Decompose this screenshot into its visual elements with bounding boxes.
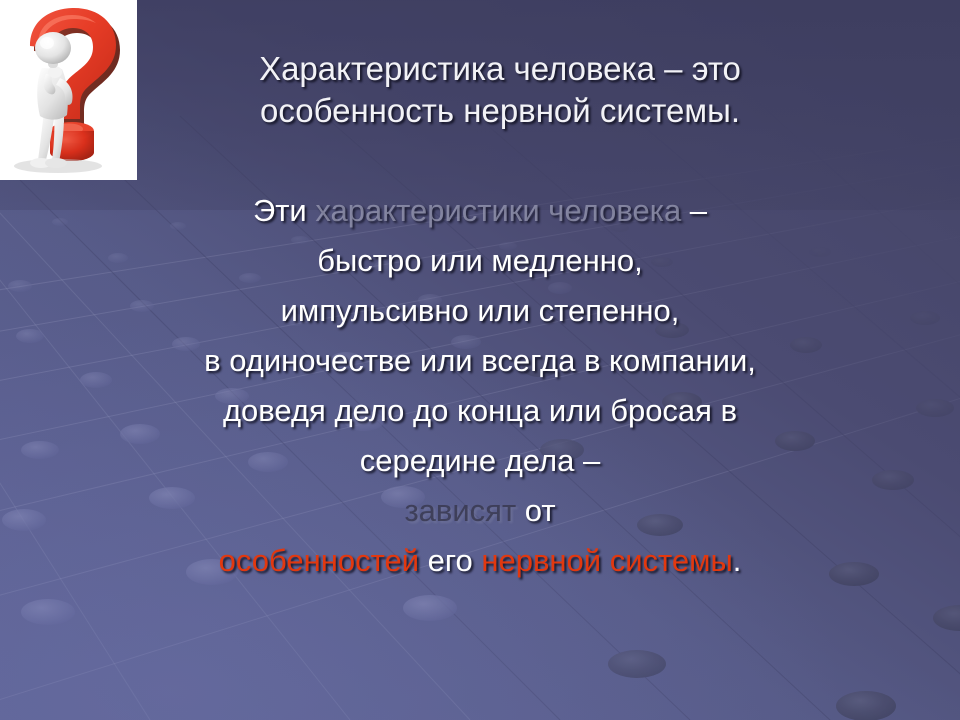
body-line-5-segment-1: доведя дело до конца или бросая в — [223, 393, 737, 428]
slide-title-line-2: особенность нервной системы. — [150, 90, 850, 132]
body-line-7-segment-1: зависят — [404, 493, 516, 528]
body-line-1-segment-2: характеристики человека — [315, 193, 681, 228]
body-line-8-segment-4: . — [733, 543, 742, 578]
body-line-3: импульсивно или степенно, — [60, 286, 900, 336]
body-line-8: особенностей его нервной системы. — [60, 536, 900, 586]
body-line-3-segment-1: импульсивно или степенно, — [281, 293, 680, 328]
body-line-6-segment-1: середине дела – — [360, 443, 600, 478]
body-line-8-segment-2: его — [419, 543, 481, 578]
slide-title-line-1: Характеристика человека – это — [150, 48, 850, 90]
body-line-1: Эти характеристики человека – — [60, 186, 900, 236]
presentation-slide: Характеристика человека – это особенност… — [0, 0, 960, 720]
slide-body: Эти характеристики человека –быстро или … — [60, 186, 900, 586]
body-line-1-segment-1: Эти — [253, 193, 315, 228]
body-line-4-segment-1: в одиночестве или всегда в компании, — [204, 343, 756, 378]
body-line-8-segment-3: нервной системы — [481, 543, 732, 578]
body-line-5: доведя дело до конца или бросая в — [60, 386, 900, 436]
body-line-2-segment-1: быстро или медленно, — [317, 243, 643, 278]
body-line-7: зависят от — [60, 486, 900, 536]
body-line-6: середине дела – — [60, 436, 900, 486]
body-line-1-segment-3: – — [681, 193, 707, 228]
body-line-4: в одиночестве или всегда в компании, — [60, 336, 900, 386]
body-line-2: быстро или медленно, — [60, 236, 900, 286]
body-line-8-segment-1: особенностей — [219, 543, 419, 578]
thinking-person-question-mark-image — [0, 0, 137, 180]
body-line-7-segment-2: от — [516, 493, 555, 528]
slide-title: Характеристика человека – это особенност… — [150, 48, 850, 132]
